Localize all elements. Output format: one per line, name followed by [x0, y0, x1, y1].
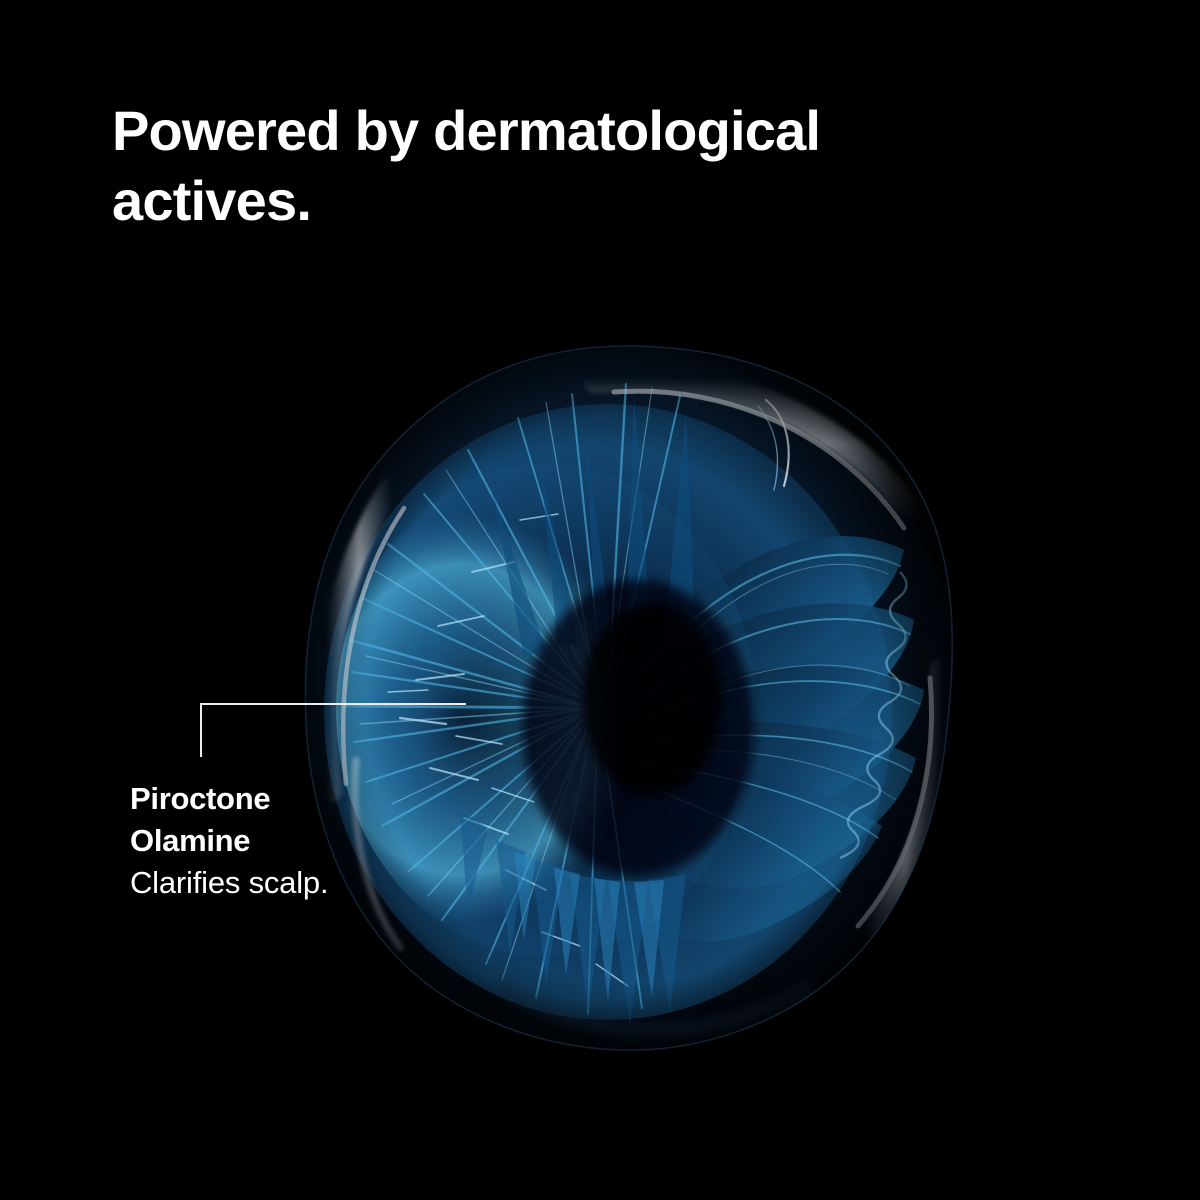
- ingredient-name: Piroctone Olamine: [130, 778, 360, 862]
- ingredient-droplet-artwork: [296, 340, 956, 1056]
- droplet-illustration: [296, 340, 956, 1056]
- leader-line-vertical: [200, 703, 202, 757]
- ingredient-callout: Piroctone Olamine Clarifies scalp.: [130, 778, 360, 904]
- page-title: Powered by dermatological actives.: [112, 96, 1012, 236]
- ingredient-benefit: Clarifies scalp.: [130, 862, 360, 904]
- promo-canvas: Powered by dermatological actives.: [0, 0, 1200, 1200]
- droplet-body: [296, 340, 956, 1056]
